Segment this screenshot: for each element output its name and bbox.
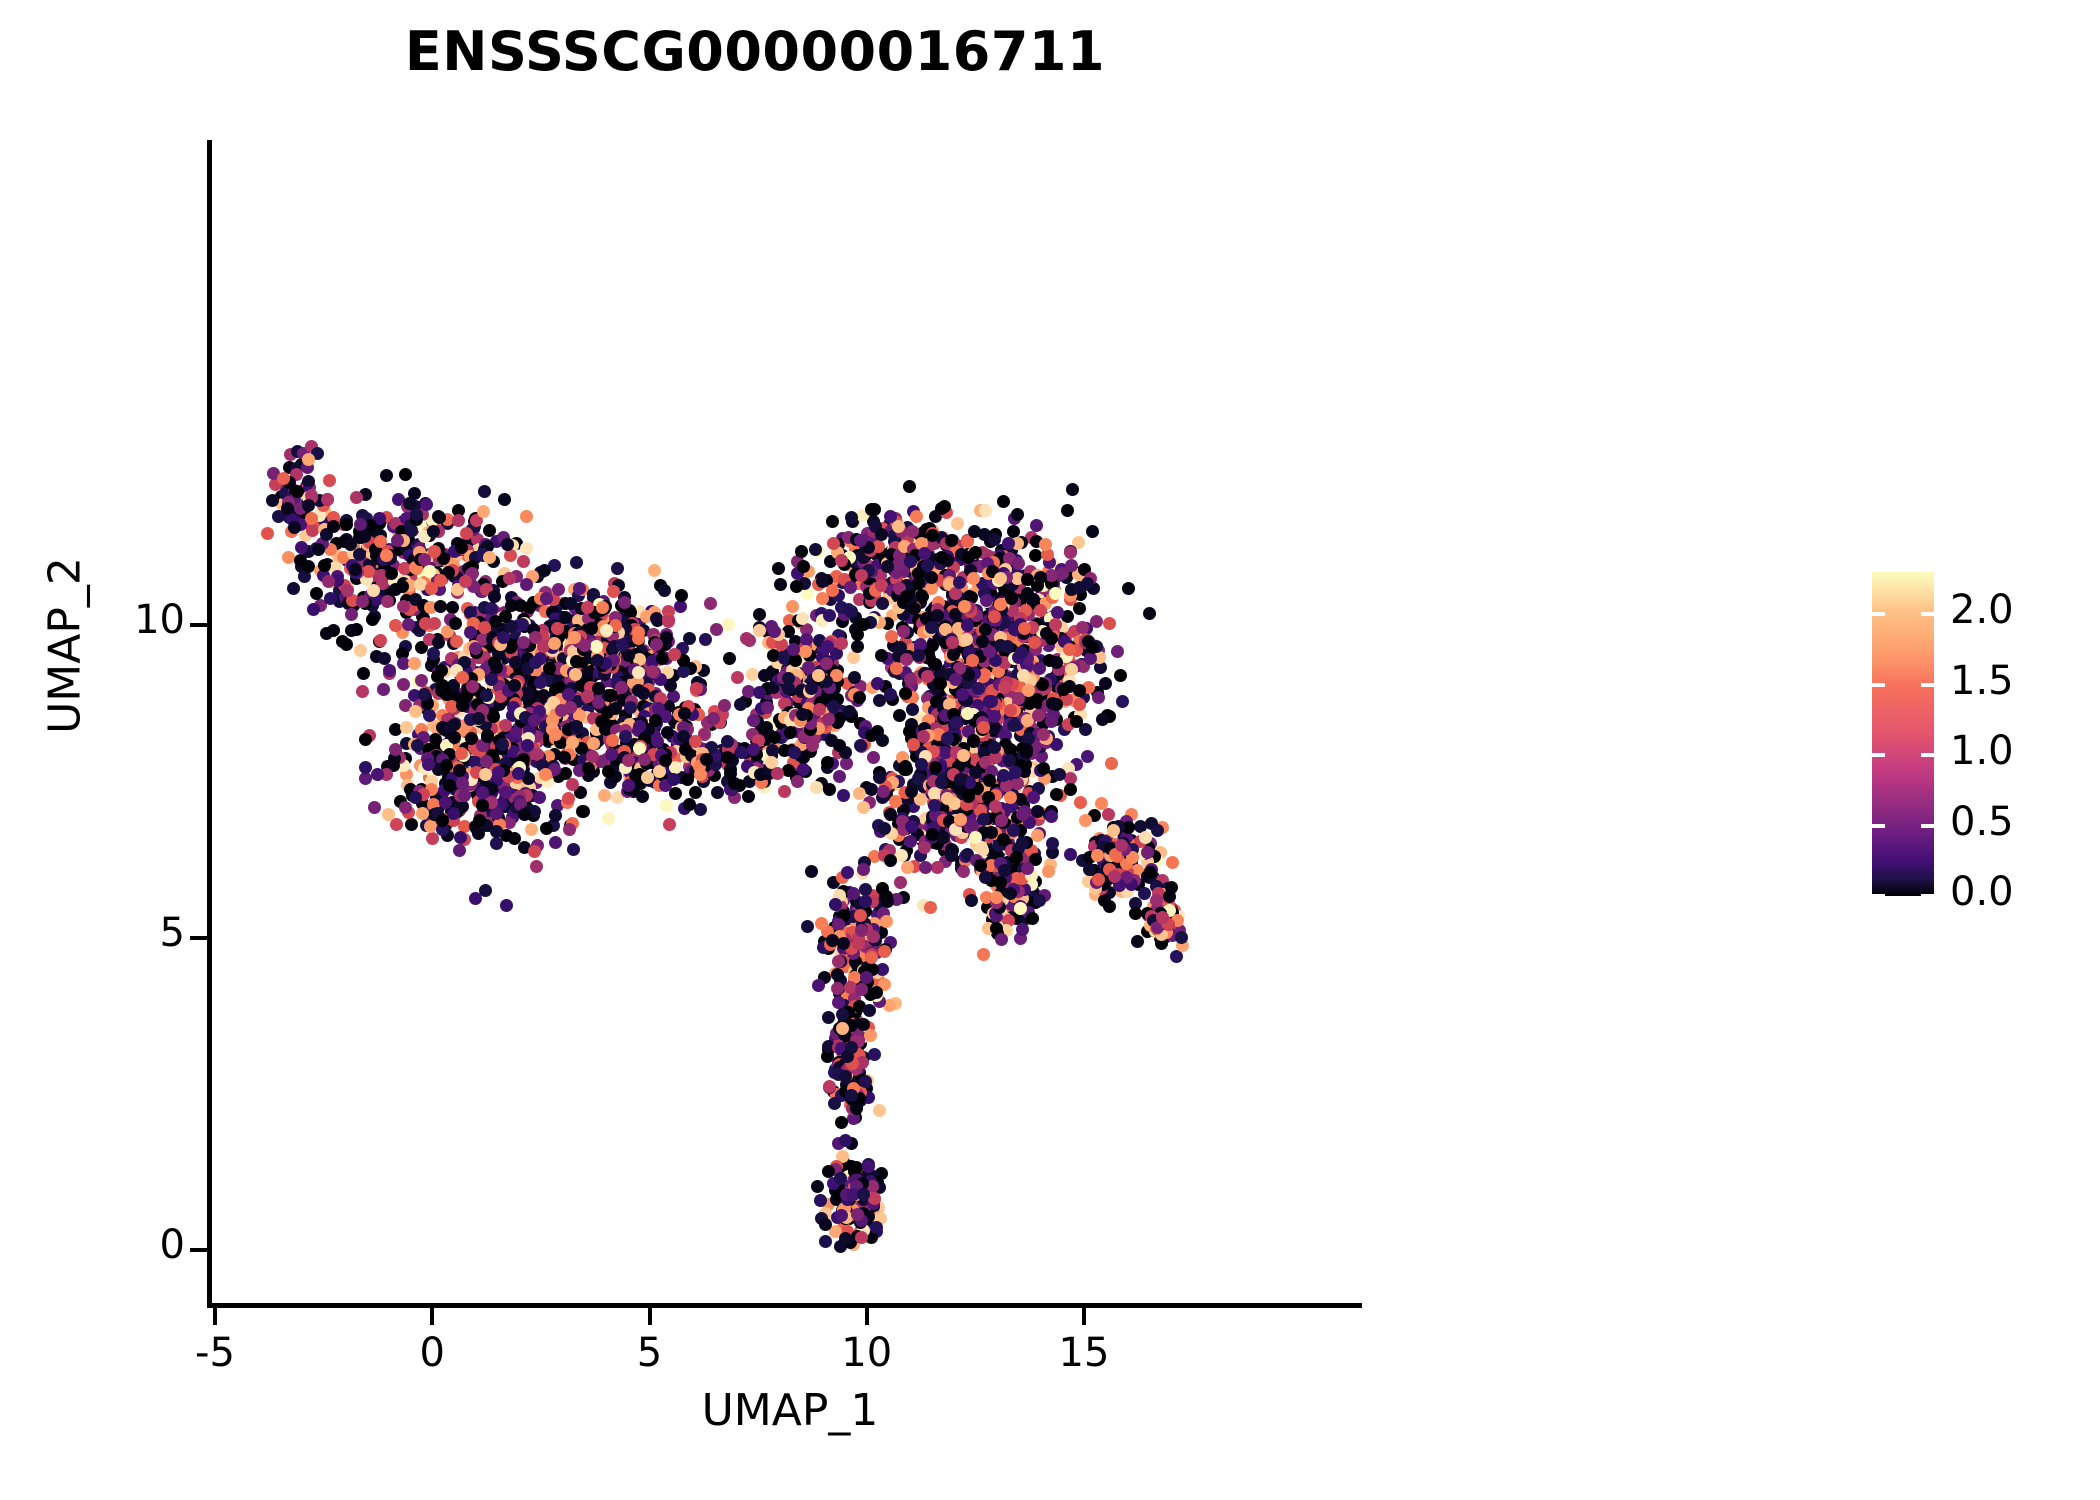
x-tick-label: 0 (372, 1330, 492, 1376)
scatter-point (833, 739, 846, 752)
scatter-point (646, 665, 659, 678)
scatter-point (562, 792, 575, 805)
scatter-point (837, 937, 850, 950)
scatter-point (931, 609, 944, 622)
scatter-point (452, 514, 465, 527)
scatter-point (997, 833, 1010, 846)
y-tick-label: 5 (0, 910, 185, 956)
scatter-point (440, 759, 453, 772)
scatter-point (602, 765, 615, 778)
scatter-point (761, 701, 774, 714)
scatter-point (707, 712, 720, 725)
scatter-point (1074, 796, 1087, 809)
colorbar-tick-mark (1872, 894, 1885, 898)
scatter-point (919, 861, 932, 874)
scatter-point (788, 746, 801, 759)
scatter-point (753, 686, 766, 699)
scatter-point (409, 791, 422, 804)
scatter-point (322, 575, 335, 588)
scatter-point (341, 584, 354, 597)
scatter-point (1064, 783, 1077, 796)
scatter-point (836, 1022, 849, 1035)
scatter-point (851, 1208, 864, 1221)
scatter-point (1107, 824, 1120, 837)
scatter-point (873, 771, 886, 784)
scatter-point (977, 813, 990, 826)
scatter-point (650, 638, 663, 651)
scatter-point (1033, 662, 1046, 675)
scatter-point (454, 831, 467, 844)
scatter-point (549, 809, 562, 822)
scatter-point (500, 899, 513, 912)
scatter-point (821, 756, 834, 769)
scatter-point (1103, 617, 1116, 630)
scatter-point (795, 545, 808, 558)
scatter-point (340, 518, 353, 531)
scatter-point (517, 555, 530, 568)
scatter-point (979, 504, 992, 517)
scatter-point (875, 649, 888, 662)
scatter-point (908, 602, 921, 615)
x-tick-mark (648, 1308, 652, 1325)
scatter-point (443, 779, 456, 792)
x-tick-mark (865, 1308, 869, 1325)
scatter-point (988, 610, 1001, 623)
scatter-point (281, 502, 294, 515)
scatter-point (1017, 669, 1030, 682)
scatter-point (678, 707, 691, 720)
scatter-point (1016, 923, 1029, 936)
scatter-point (648, 564, 661, 577)
scatter-point (1031, 829, 1044, 842)
scatter-point (894, 876, 907, 889)
scatter-point (465, 732, 478, 745)
scatter-point (528, 845, 541, 858)
scatter-point (477, 505, 490, 518)
scatter-point (585, 622, 598, 635)
scatter-point (965, 894, 978, 907)
scatter-point (823, 609, 836, 622)
scatter-point (307, 603, 320, 616)
scatter-point (1143, 607, 1156, 620)
scatter-point (833, 770, 846, 783)
scatter-point (1156, 911, 1169, 924)
scatter-point (508, 679, 521, 692)
scatter-point (520, 542, 533, 555)
scatter-point (591, 654, 604, 667)
scatter-point (558, 751, 571, 764)
scatter-point (1122, 582, 1135, 595)
colorbar-tick-mark (1921, 824, 1934, 828)
scatter-point (1092, 691, 1105, 704)
colorbar-tick-label: 1.0 (1950, 728, 2014, 774)
scatter-point (469, 892, 482, 905)
scatter-point (1007, 719, 1020, 732)
scatter-point (1007, 525, 1020, 538)
colorbar-tick-label: 0.5 (1950, 799, 2014, 845)
scatter-point (718, 699, 731, 712)
scatter-point (810, 781, 823, 794)
scatter-point (1045, 715, 1058, 728)
scatter-point (906, 525, 919, 538)
scatter-point (743, 634, 756, 647)
scatter-point (350, 491, 363, 504)
scatter-point (728, 777, 741, 790)
scatter-point (674, 600, 687, 613)
scatter-point (1057, 683, 1070, 696)
scatter-point (951, 517, 964, 530)
scatter-point (1086, 525, 1099, 538)
scatter-point (533, 791, 546, 804)
scatter-point (1027, 791, 1040, 804)
scatter-point (383, 664, 396, 677)
scatter-point (622, 754, 635, 767)
scatter-point (636, 790, 649, 803)
scatter-point (488, 590, 501, 603)
x-tick-label: -5 (155, 1330, 275, 1376)
scatter-point (1001, 640, 1014, 653)
scatter-point (340, 638, 353, 651)
colorbar-tick-label: 0.0 (1950, 869, 2014, 915)
scatter-point (1010, 851, 1023, 864)
scatter-point (1065, 663, 1078, 676)
scatter-point (897, 625, 910, 638)
scatter-point (429, 733, 442, 746)
scatter-point (380, 469, 393, 482)
scatter-point (562, 688, 575, 701)
scatter-point (652, 702, 665, 715)
scatter-point (1049, 618, 1062, 631)
scatter-point (928, 799, 941, 812)
scatter-point (839, 1070, 852, 1083)
scatter-point (864, 1029, 877, 1042)
scatter-point (1103, 900, 1116, 913)
scatter-point (723, 652, 736, 665)
scatter-point (675, 589, 688, 602)
scatter-point (552, 583, 565, 596)
scatter-point (1175, 931, 1188, 944)
scatter-point (549, 836, 562, 849)
page-title: ENSSSCG00000016711 (0, 22, 1510, 81)
x-tick-mark (430, 1308, 434, 1325)
scatter-point (734, 698, 747, 711)
scatter-point (853, 691, 866, 704)
scatter-point (1105, 757, 1118, 770)
scatter-point (870, 1221, 883, 1234)
scatter-point (850, 1161, 863, 1174)
scatter-point (570, 720, 583, 733)
scatter-point (905, 820, 918, 833)
scatter-point (1045, 810, 1058, 823)
scatter-point (847, 651, 860, 664)
scatter-point (385, 567, 398, 580)
scatter-point (903, 480, 916, 493)
scatter-point (327, 520, 340, 533)
scatter-point (472, 712, 485, 725)
scatter-point (295, 541, 308, 554)
colorbar-tick-label: 2.0 (1950, 587, 2014, 633)
scatter-point (570, 556, 583, 569)
scatter-point (947, 648, 960, 661)
scatter-point (1064, 546, 1077, 559)
scatter-point (925, 621, 938, 634)
scatter-point (974, 859, 987, 872)
scatter-point (302, 499, 315, 512)
scatter-point (831, 968, 844, 981)
scatter-point (291, 485, 304, 498)
scatter-point (880, 915, 893, 928)
scatter-point (995, 933, 1008, 946)
scatter-point (530, 860, 543, 873)
scatter-point (408, 657, 421, 670)
scatter-point (498, 493, 511, 506)
scatter-point (1129, 907, 1142, 920)
scatter-point (834, 1172, 847, 1185)
scatter-point (397, 600, 410, 613)
scatter-point (602, 812, 615, 825)
scatter-point (857, 801, 870, 814)
scatter-point (1099, 677, 1112, 690)
scatter-point (855, 983, 868, 996)
scatter-point (845, 1089, 858, 1102)
scatter-point (449, 617, 462, 630)
scatter-point (587, 737, 600, 750)
scatter-point (1018, 622, 1031, 635)
scatter-point (1026, 912, 1039, 925)
scatter-point (900, 590, 913, 603)
scatter-point (378, 652, 391, 665)
colorbar-tick-mark (1921, 894, 1934, 898)
scatter-point (1020, 743, 1033, 756)
scatter-point (663, 818, 676, 831)
scatter-point (977, 948, 990, 961)
scatter-point (878, 945, 891, 958)
scatter-point (490, 837, 503, 850)
scatter-point (277, 472, 290, 485)
scatter-point (979, 871, 992, 884)
scatter-point (505, 599, 518, 612)
scatter-point (422, 758, 435, 771)
scatter-point (1011, 508, 1024, 521)
scatter-point (485, 602, 498, 615)
scatter-point (700, 753, 713, 766)
scatter-point (1096, 713, 1109, 726)
scatter-point (426, 832, 439, 845)
scatter-point (1092, 873, 1105, 886)
scatter-point (400, 721, 413, 734)
scatter-point (577, 805, 590, 818)
scatter-point (915, 758, 928, 771)
y-tick-mark (190, 623, 207, 627)
scatter-point (366, 613, 379, 626)
scatter-point (924, 901, 937, 914)
scatter-point (418, 553, 431, 566)
scatter-point (768, 625, 781, 638)
scatter-point (658, 584, 671, 597)
scatter-point (813, 703, 826, 716)
scatter-point (1021, 862, 1034, 875)
scatter-point (851, 640, 864, 653)
scatter-point (845, 511, 858, 524)
scatter-point (428, 617, 441, 630)
scatter-point (356, 685, 369, 698)
scatter-point (266, 494, 279, 507)
scatter-point (618, 596, 631, 609)
scatter-point (1046, 697, 1059, 710)
scatter-point (972, 682, 985, 695)
scatter-point (525, 823, 538, 836)
scatter-point (823, 1080, 836, 1093)
scatter-point (261, 527, 274, 540)
scatter-point (469, 642, 482, 655)
scatter-point (1066, 483, 1079, 496)
scatter-point (399, 468, 412, 481)
scatter-point (753, 608, 766, 621)
scatter-point (1138, 887, 1151, 900)
scatter-point (1073, 602, 1086, 615)
scatter-point (1033, 894, 1046, 907)
scatter-point (771, 767, 784, 780)
scatter-point (1042, 865, 1055, 878)
scatter-point (521, 739, 534, 752)
scatter-point (559, 611, 572, 624)
scatter-point (399, 801, 412, 814)
colorbar-tick-mark (1921, 612, 1934, 616)
scatter-point (1063, 643, 1076, 656)
scatter-point (1090, 615, 1103, 628)
scatter-point (529, 656, 542, 669)
scatter-point (801, 920, 814, 933)
scatter-point (683, 632, 696, 645)
scatter-point (464, 626, 477, 639)
scatter-point (538, 564, 551, 577)
scatter-point (368, 801, 381, 814)
x-tick-mark (1082, 1308, 1086, 1325)
scatter-point (805, 865, 818, 878)
scatter-point (837, 789, 850, 802)
scatter-point (853, 787, 866, 800)
scatter-point (957, 749, 970, 762)
scatter-point (873, 694, 886, 707)
scatter-point (569, 668, 582, 681)
scatter-point (367, 584, 380, 597)
scatter-point (867, 751, 880, 764)
scatter-point (381, 595, 394, 608)
scatter-point (791, 775, 804, 788)
scatter-point (323, 474, 336, 487)
scatter-point (306, 524, 319, 537)
scatter-point (501, 538, 514, 551)
scatter-point (881, 560, 894, 573)
scatter-point (857, 1188, 870, 1201)
scatter-point (1166, 856, 1179, 869)
x-axis-label: UMAP_1 (420, 1385, 1160, 1436)
scatter-point (566, 736, 579, 749)
scatter-point (659, 754, 672, 767)
scatter-point (819, 1235, 832, 1248)
scatter-point (1037, 728, 1050, 741)
scatter-point (662, 615, 675, 628)
scatter-point (358, 530, 371, 543)
scatter-point (1050, 656, 1063, 669)
scatter-point (878, 822, 891, 835)
scatter-point (1086, 641, 1099, 654)
scatter-point (581, 690, 594, 703)
scatter-point (598, 789, 611, 802)
scatter-point (570, 655, 583, 668)
umap-feature-plot: ENSSSCG00000016711 0510 -5051015 UMAP_2 … (0, 0, 2100, 1500)
scatter-point (935, 776, 948, 789)
scatter-point (857, 863, 870, 876)
y-tick-mark (190, 1248, 207, 1252)
scatter-point (415, 674, 428, 687)
scatter-point (1039, 538, 1052, 551)
scatter-point (694, 768, 707, 781)
scatter-point (1064, 848, 1077, 861)
scatter-point (439, 796, 452, 809)
scatter-point (1004, 791, 1017, 804)
scatter-point (418, 688, 431, 701)
scatter-point (305, 512, 318, 525)
scatter-point (949, 673, 962, 686)
scatter-point (957, 865, 970, 878)
colorbar-tick-mark (1872, 753, 1885, 757)
scatter-point (616, 639, 629, 652)
scatter-point (876, 597, 889, 610)
scatter-point (867, 930, 880, 943)
scatter-point (945, 534, 958, 547)
scatter-point (649, 714, 662, 727)
scatter-point (899, 760, 912, 773)
scatter-point (812, 979, 825, 992)
scatter-point (389, 743, 402, 756)
scatter-point (540, 822, 553, 835)
scatter-point (875, 528, 888, 541)
scatter-point (865, 951, 878, 964)
scatter-point (374, 535, 387, 548)
scatter-point (859, 1075, 872, 1088)
scatter-point (873, 1104, 886, 1117)
scatter-point (302, 560, 315, 573)
scatter-point (432, 510, 445, 523)
scatter-point (396, 580, 409, 593)
scatter-point (841, 866, 854, 879)
scatter-point (899, 687, 912, 700)
scatter-point (478, 621, 491, 634)
scatter-point (797, 560, 810, 573)
scatter-point (490, 661, 503, 674)
scatter-point (994, 572, 1007, 585)
scatter-point (1115, 839, 1128, 852)
scatter-point (1030, 519, 1043, 532)
scatter-point (312, 543, 325, 556)
scatter-point (868, 1048, 881, 1061)
scatter-point (1108, 870, 1121, 883)
scatter-point (829, 898, 842, 911)
scatter-point (931, 861, 944, 874)
scatter-point (822, 713, 835, 726)
scatter-point (458, 789, 471, 802)
scatter-point (859, 895, 872, 908)
scatter-point (357, 667, 370, 680)
scatter-point (466, 680, 479, 693)
scatter-point (1002, 537, 1015, 550)
scatter-point (416, 807, 429, 820)
y-axis-label: UMAP_2 (40, 476, 91, 816)
scatter-point (865, 729, 878, 742)
colorbar-tick-mark (1872, 824, 1885, 828)
scatter-point (1151, 824, 1164, 837)
